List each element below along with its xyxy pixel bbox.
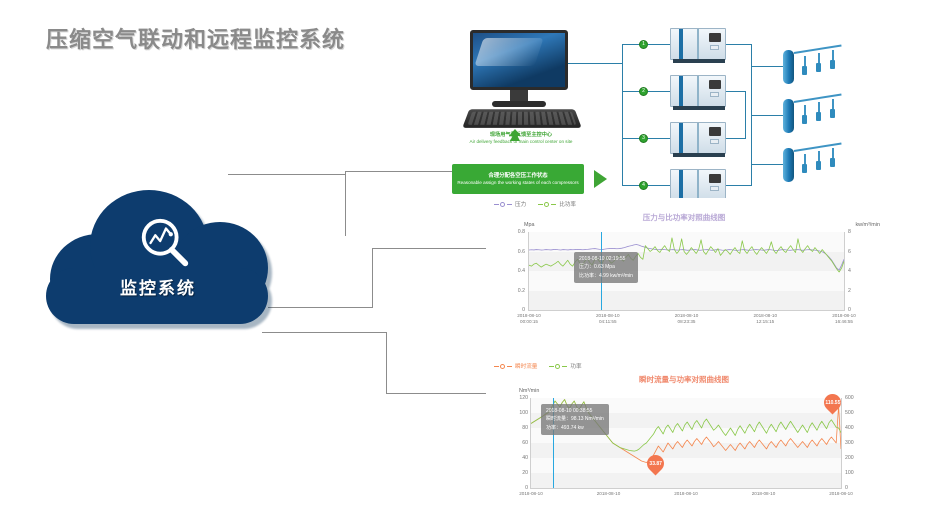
y-tick: 6 <box>848 249 851 255</box>
connector-line-mid-riser <box>372 248 373 308</box>
legend-label-flow: 瞬时流量 <box>515 362 537 370</box>
y-tick: 20 <box>486 470 528 476</box>
pipe-node1-comp <box>648 44 670 45</box>
pipe-trunk-vertical <box>622 44 623 186</box>
x-tick: 2018-08-1008:23:35 <box>675 313 699 325</box>
connector-line-bottom <box>262 332 387 333</box>
chart1-legend[interactable]: 压力 比功率 <box>494 200 576 208</box>
assign-status-box: 合理分配各空压工作状态 Reasonable assign the workin… <box>452 164 584 194</box>
air-tank <box>783 148 794 182</box>
y-tick: 120 <box>486 395 528 401</box>
air-tool <box>802 66 807 75</box>
pipe-branch-1 <box>622 44 640 45</box>
x-tick: 2018-08-10 <box>674 491 698 497</box>
legend-item-pressure[interactable]: 压力 <box>494 200 526 208</box>
legend-symbol-flow <box>494 363 512 370</box>
compressor-unit <box>670 75 726 107</box>
chart2-xaxis <box>530 488 842 489</box>
feedback-note-en: Air delivery feedback of main control ce… <box>438 139 604 145</box>
y-tick: 600 <box>845 395 854 401</box>
chart-flow-vs-power[interactable]: 瞬时流量 功率 瞬时流量与功率对照曲线图 Nm³/min 12010080604… <box>486 360 882 525</box>
pipe-branch-3 <box>622 138 640 139</box>
node-label-4: 4 <box>640 182 647 189</box>
compressor-unit <box>670 169 726 201</box>
x-tick: 2018-08-1016:46:55 <box>832 313 856 325</box>
legend-symbol-power <box>549 363 567 370</box>
chart1-xaxis <box>528 310 845 311</box>
tooltip-row: 2018-08-10 02:19:55 <box>579 255 633 263</box>
chart1-yaxis-right <box>844 232 845 311</box>
x-tick: 2018-08-10 <box>519 491 543 497</box>
tooltip-row: 功率：493.74 kw <box>546 424 604 432</box>
connector-line-mid-tail <box>372 248 487 249</box>
chart-pressure-vs-specific-power[interactable]: 压力 比功率 压力与比功率对照曲线图 Mpa kw/m³/min 0.80.60… <box>486 198 882 334</box>
air-tool <box>802 164 807 173</box>
node-label-3: 3 <box>640 135 647 142</box>
y-tick: 400 <box>845 425 854 431</box>
chart1-tooltip: 2018-08-10 02:19:55压力：0.63 Mpa比功率：4.99 k… <box>574 252 638 283</box>
x-tick: 2018-08-10 <box>597 491 621 497</box>
chart1-ylabel: Mpa <box>524 222 535 228</box>
legend-symbol-specific-power <box>538 201 556 208</box>
chart2-title: 瞬时流量与功率对照曲线图 <box>486 374 882 385</box>
assign-box-cn: 合理分配各空压工作状态 <box>452 173 584 180</box>
y-tick: 4 <box>848 268 851 274</box>
monitor-base <box>492 101 546 107</box>
air-tool <box>830 109 835 118</box>
y-tick: 0.8 <box>486 229 525 235</box>
pipe-to-tank-3 <box>752 164 784 165</box>
y-tick: 100 <box>845 470 854 476</box>
connector-line-top <box>228 174 346 175</box>
air-tool <box>816 112 821 121</box>
legend-symbol-pressure <box>494 201 512 208</box>
legend-item-flow[interactable]: 瞬时流量 <box>494 362 537 370</box>
y-tick: 300 <box>845 440 854 446</box>
air-tool <box>802 115 807 124</box>
air-tool <box>830 60 835 69</box>
legend-item-power[interactable]: 功率 <box>549 362 581 370</box>
x-tick: 2018-08-10 <box>829 491 853 497</box>
chart2-tooltip: 2018-08-10 00:38:55瞬时流量：98.13 Nm³/min功率：… <box>541 404 609 435</box>
status-node-4[interactable]: 4 <box>639 181 648 190</box>
pipe-comp4-out <box>726 185 752 186</box>
tooltip-row: 瞬时流量：98.13 Nm³/min <box>546 415 604 423</box>
monitor-screen-icon <box>470 30 568 90</box>
pipe-to-tank-1 <box>752 66 784 67</box>
y-tick: 40 <box>486 455 528 461</box>
connector-line-bottom-tail <box>386 393 487 394</box>
air-tank <box>783 50 794 84</box>
pipe-to-tank-2 <box>752 115 784 116</box>
chart1-ylabel-right: kw/m³/min <box>855 222 880 228</box>
y-tick: 0.4 <box>486 268 525 274</box>
y-tick: 8 <box>848 229 851 235</box>
status-node-3[interactable]: 3 <box>639 134 648 143</box>
x-tick: 2018-08-1000:00:15 <box>517 313 541 325</box>
x-tick: 2018-08-1004:11:55 <box>596 313 620 325</box>
pipe-node2-comp <box>648 91 670 92</box>
y-tick: 100 <box>486 410 528 416</box>
connector-line-top-riser <box>345 172 346 236</box>
pipe-computer-to-trunk <box>568 63 623 64</box>
feedback-note-cn: 现场用气量反馈至主控中心 <box>438 132 604 139</box>
y-tick: 0.6 <box>486 249 525 255</box>
connector-line-bottom-riser <box>386 332 387 394</box>
pipe-comp1-out <box>726 44 752 45</box>
status-node-2[interactable]: 2 <box>639 87 648 96</box>
chart1-title: 压力与比功率对照曲线图 <box>486 212 882 223</box>
system-architecture-diagram: 现场用气量反馈至主控中心 Air delivery feedback of ma… <box>432 16 932 206</box>
magnifier-chart-icon <box>136 214 194 272</box>
assign-box-en: Reasonable assign the working states of … <box>452 180 584 186</box>
legend-item-specific-power[interactable]: 比功率 <box>538 200 576 208</box>
chart2-legend[interactable]: 瞬时流量 功率 <box>494 362 582 370</box>
keyboard-icon <box>462 109 581 128</box>
tooltip-row: 比功率：4.99 kw/m³/min <box>579 272 633 280</box>
air-tool <box>830 158 835 167</box>
air-tank <box>783 99 794 133</box>
status-node-1[interactable]: 1 <box>639 40 648 49</box>
x-tick: 2018-08-10 <box>752 491 776 497</box>
node-label-1: 1 <box>640 41 647 48</box>
tooltip-row: 压力：0.63 Mpa <box>579 263 633 271</box>
air-tool <box>816 63 821 72</box>
pipe-comp2-out <box>726 91 746 92</box>
x-tick: 2018-08-1012:15:15 <box>754 313 778 325</box>
node-label-2: 2 <box>640 88 647 95</box>
pipe-node4-comp <box>648 185 670 186</box>
air-tool <box>816 161 821 170</box>
monitoring-cloud[interactable]: 监控系统 <box>32 182 292 332</box>
pipe-branch-2 <box>622 91 640 92</box>
marker-label: 110.55 <box>825 399 840 405</box>
y-tick: 0.2 <box>486 288 525 294</box>
legend-label-power: 功率 <box>570 362 581 370</box>
cloud-label: 监控系统 <box>32 274 284 299</box>
pipe-branch-4 <box>622 185 640 186</box>
chart2-yaxis-right <box>841 398 842 489</box>
y-tick: 200 <box>845 455 854 461</box>
page-title: 压缩空气联动和远程监控系统 <box>46 22 345 54</box>
y-tick: 2 <box>848 288 851 294</box>
chart2-ylabel: Nm³/min <box>519 388 539 394</box>
pipe-right-trunk-b <box>745 91 746 139</box>
y-tick: 60 <box>486 440 528 446</box>
pipe-node3-comp <box>648 138 670 139</box>
y-tick: 500 <box>845 410 854 416</box>
marker-label: 33.87 <box>649 460 662 466</box>
compressor-unit <box>670 122 726 154</box>
compressor-unit <box>670 28 726 60</box>
right-arrow-icon <box>594 170 607 188</box>
tooltip-row: 2018-08-10 00:38:55 <box>546 407 604 415</box>
legend-label-specific-power: 比功率 <box>559 200 576 208</box>
legend-label-pressure: 压力 <box>515 200 526 208</box>
y-tick: 80 <box>486 425 528 431</box>
pipe-comp3-out <box>726 138 746 139</box>
